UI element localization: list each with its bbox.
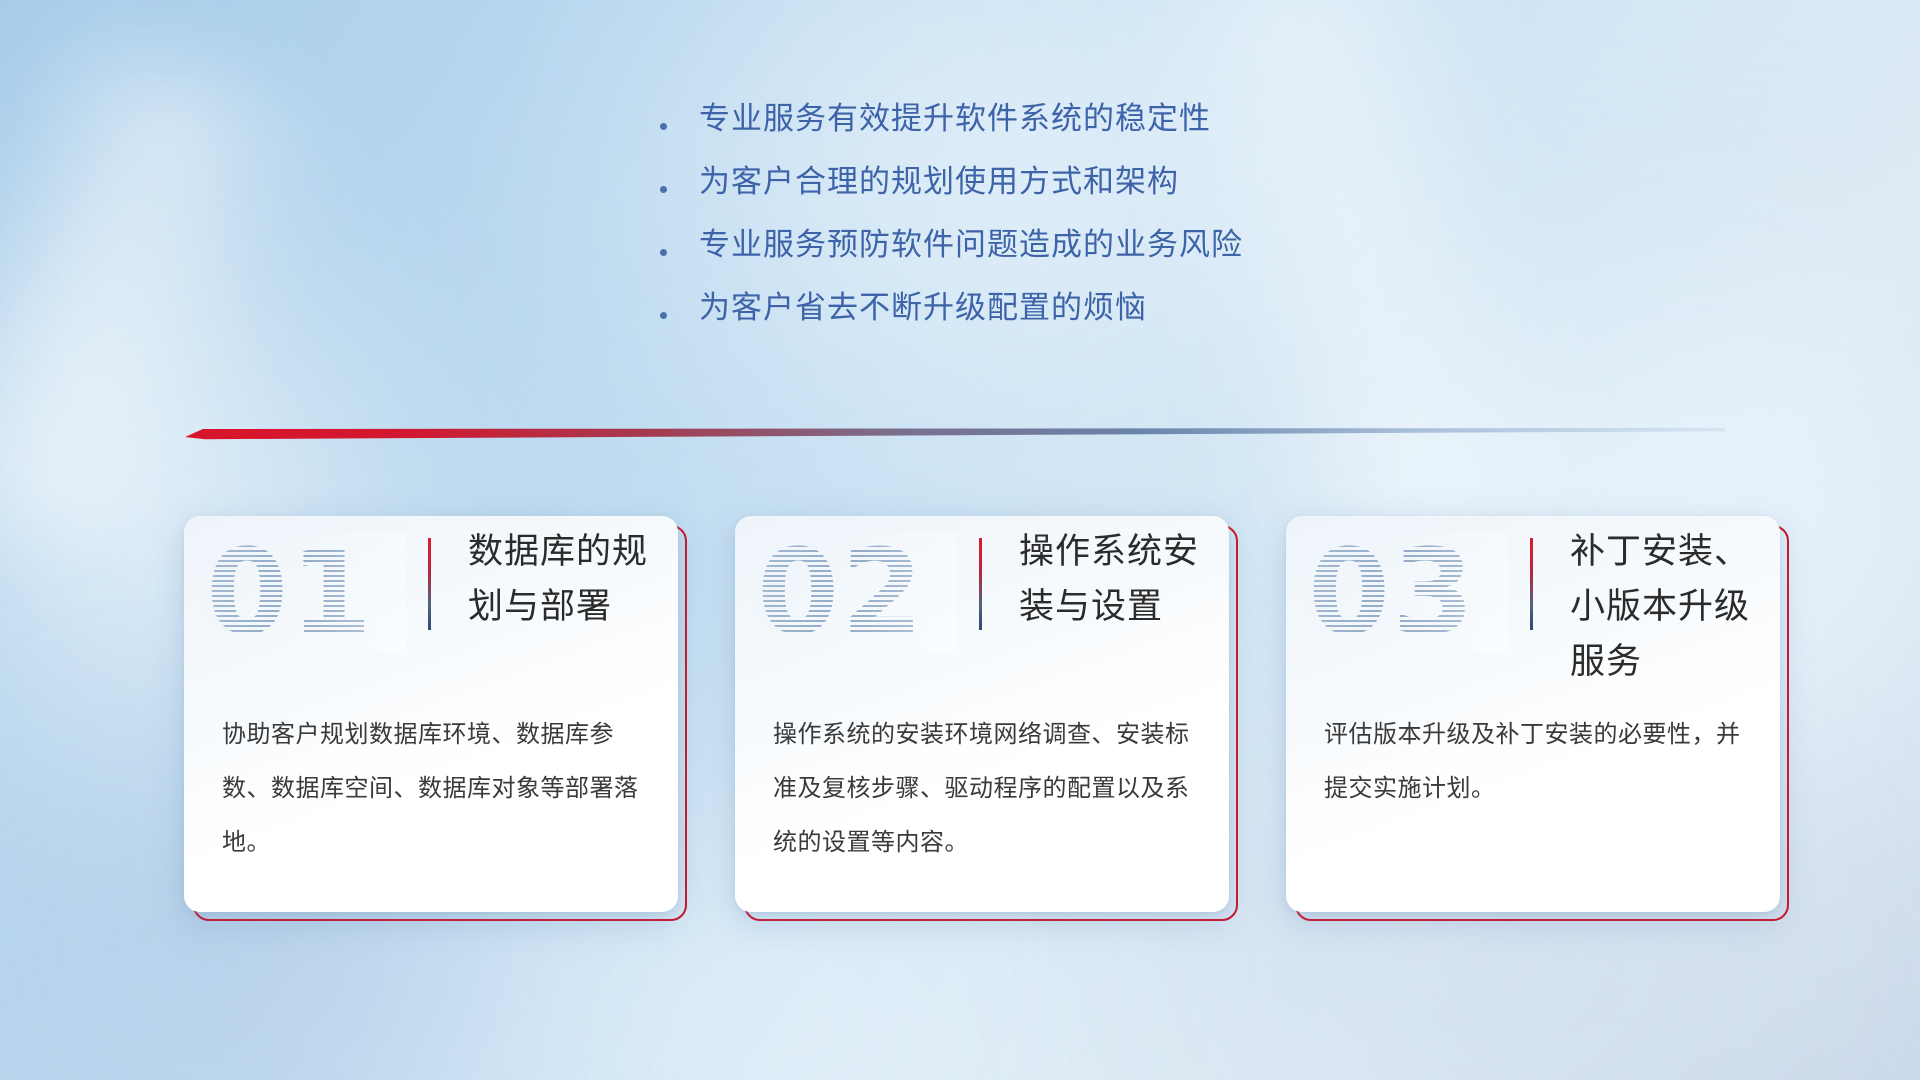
bullet-dot-icon: [660, 186, 667, 193]
bullet-text: 专业服务预防软件问题造成的业务风险: [699, 229, 1243, 260]
bullet-dot-icon: [660, 123, 667, 130]
card-body-text: 评估版本升级及补丁安装的必要性，并提交实施计划。: [1324, 708, 1744, 816]
bullet-text: 为客户合理的规划使用方式和架构: [699, 166, 1179, 197]
list-item: 为客户合理的规划使用方式和架构: [660, 166, 1243, 229]
card-body-text: 操作系统的安装环境网络调查、安装标准及复核步骤、驱动程序的配置以及系统的设置等内…: [773, 708, 1193, 870]
bullet-dot-icon: [660, 312, 667, 319]
card-surface[interactable]: 03 补丁安装、小版本升级服务 评估版本升级及补丁安装的必要性，并提交实施计划。: [1286, 516, 1780, 912]
card-surface[interactable]: 02 操作系统安装与设置 操作系统的安装环境网络调查、安装标准及复核步骤、驱动程…: [735, 516, 1229, 912]
benefits-bullet-list: 专业服务有效提升软件系统的稳定性 为客户合理的规划使用方式和架构 专业服务预防软…: [660, 103, 1243, 355]
card-number-watermark: 03: [1308, 532, 1508, 652]
card-title: 补丁安装、小版本升级服务: [1570, 524, 1770, 689]
card-header: 01 数据库的规划与部署: [184, 516, 678, 666]
card-surface[interactable]: 01 数据库的规划与部署 协助客户规划数据库环境、数据库参数、数据库空间、数据库…: [184, 516, 678, 912]
service-card-02[interactable]: 02 操作系统安装与设置 操作系统的安装环境网络调查、安装标准及复核步骤、驱动程…: [735, 516, 1229, 912]
bullet-text: 专业服务有效提升软件系统的稳定性: [699, 103, 1211, 134]
service-card-03[interactable]: 03 补丁安装、小版本升级服务 评估版本升级及补丁安装的必要性，并提交实施计划。: [1286, 516, 1780, 912]
card-title-accent-bar: [1530, 538, 1533, 630]
divider-rule-icon: [185, 425, 1725, 441]
card-header: 03 补丁安装、小版本升级服务: [1286, 516, 1780, 666]
section-divider: [185, 425, 1725, 441]
service-card-01[interactable]: 01 数据库的规划与部署 协助客户规划数据库环境、数据库参数、数据库空间、数据库…: [184, 516, 678, 912]
bullet-dot-icon: [660, 249, 667, 256]
card-number-watermark: 01: [206, 532, 406, 652]
card-header: 02 操作系统安装与设置: [735, 516, 1229, 666]
list-item: 专业服务有效提升软件系统的稳定性: [660, 103, 1243, 166]
card-title-accent-bar: [428, 538, 431, 630]
card-title: 数据库的规划与部署: [468, 524, 668, 634]
card-title-accent-bar: [979, 538, 982, 630]
list-item: 为客户省去不断升级配置的烦恼: [660, 292, 1243, 355]
bullet-text: 为客户省去不断升级配置的烦恼: [699, 292, 1147, 323]
list-item: 专业服务预防软件问题造成的业务风险: [660, 229, 1243, 292]
card-number-watermark: 02: [757, 532, 957, 652]
card-body-text: 协助客户规划数据库环境、数据库参数、数据库空间、数据库对象等部署落地。: [222, 708, 642, 870]
service-card-row: 01 数据库的规划与部署 协助客户规划数据库环境、数据库参数、数据库空间、数据库…: [0, 516, 1920, 936]
card-title: 操作系统安装与设置: [1019, 524, 1219, 634]
